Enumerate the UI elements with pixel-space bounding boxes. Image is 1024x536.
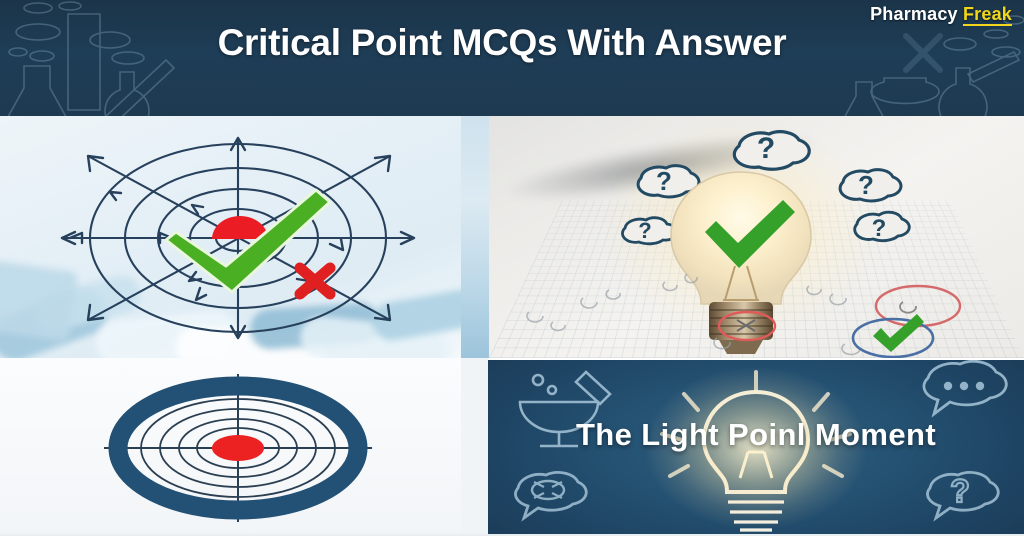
- target-diagram: [0, 116, 461, 358]
- round-bottom-flask-icon: [939, 68, 987, 116]
- banner-caption: The Light Poinl Moment: [488, 417, 1024, 453]
- bullseye-center: [212, 435, 264, 461]
- bulb-filament-outline: [740, 452, 772, 478]
- panel-light-point-moment: ? The Light Poinl Moment: [461, 358, 1024, 536]
- svg-text:?: ?: [638, 218, 651, 243]
- panel-target-with-arrows: [0, 116, 461, 358]
- red-center-dot: [212, 216, 268, 239]
- svg-text:?: ?: [656, 166, 672, 196]
- br-blue-banner: ? The Light Poinl Moment: [488, 360, 1024, 536]
- thought-bubble-question-icon: ?: [928, 472, 999, 518]
- svg-text:?: ?: [858, 170, 874, 200]
- svg-text:?: ?: [950, 473, 970, 509]
- thought-bubble-capsule-icon: [516, 472, 587, 518]
- round-bottom-flask-icon: [105, 72, 149, 116]
- arrow-inward: [196, 288, 206, 300]
- site-logo[interactable]: Pharmacy Freak: [870, 4, 1012, 25]
- erlenmeyer-flask-icon: [4, 66, 70, 116]
- panel-lightbulb-questions: ? ? ? ? ?: [461, 116, 1024, 358]
- bulb-screw-base-outline: [728, 492, 784, 530]
- thought-bubble-question-right: ?: [840, 170, 901, 201]
- blue-circle-check-icon: [853, 314, 933, 357]
- panel-bullseye-target: [0, 358, 461, 536]
- logo-text-pharmacy: Pharmacy: [870, 4, 958, 24]
- svg-text:?: ?: [872, 215, 887, 242]
- petri-dish-icon: [59, 2, 81, 10]
- page-title: Critical Point MCQs With Answer: [0, 22, 1024, 63]
- petri-dish-icon: [24, 3, 52, 13]
- image-collage: ? ? ? ? ?: [0, 116, 1024, 536]
- flask-icon: [871, 78, 939, 103]
- arrow-inward: [330, 239, 343, 250]
- lightbulb-scene: ? ? ? ? ?: [461, 116, 1024, 358]
- thought-bubble-question-lower-right: ?: [855, 212, 910, 242]
- arrow-inward: [110, 192, 121, 200]
- logo-text-freak: Freak: [963, 4, 1012, 26]
- speech-bubble-ellipsis-icon: [924, 361, 1006, 414]
- infographic-page: Critical Point MCQs With Answer Pharmacy…: [0, 0, 1024, 536]
- bullseye-diagram: [0, 358, 461, 536]
- br-left-pad: [461, 358, 488, 536]
- thought-bubble-question-top: ?: [734, 132, 809, 170]
- pipette-icon: [104, 60, 174, 116]
- page-header: Critical Point MCQs With Answer Pharmacy…: [0, 0, 1024, 116]
- svg-text:?: ?: [757, 132, 775, 165]
